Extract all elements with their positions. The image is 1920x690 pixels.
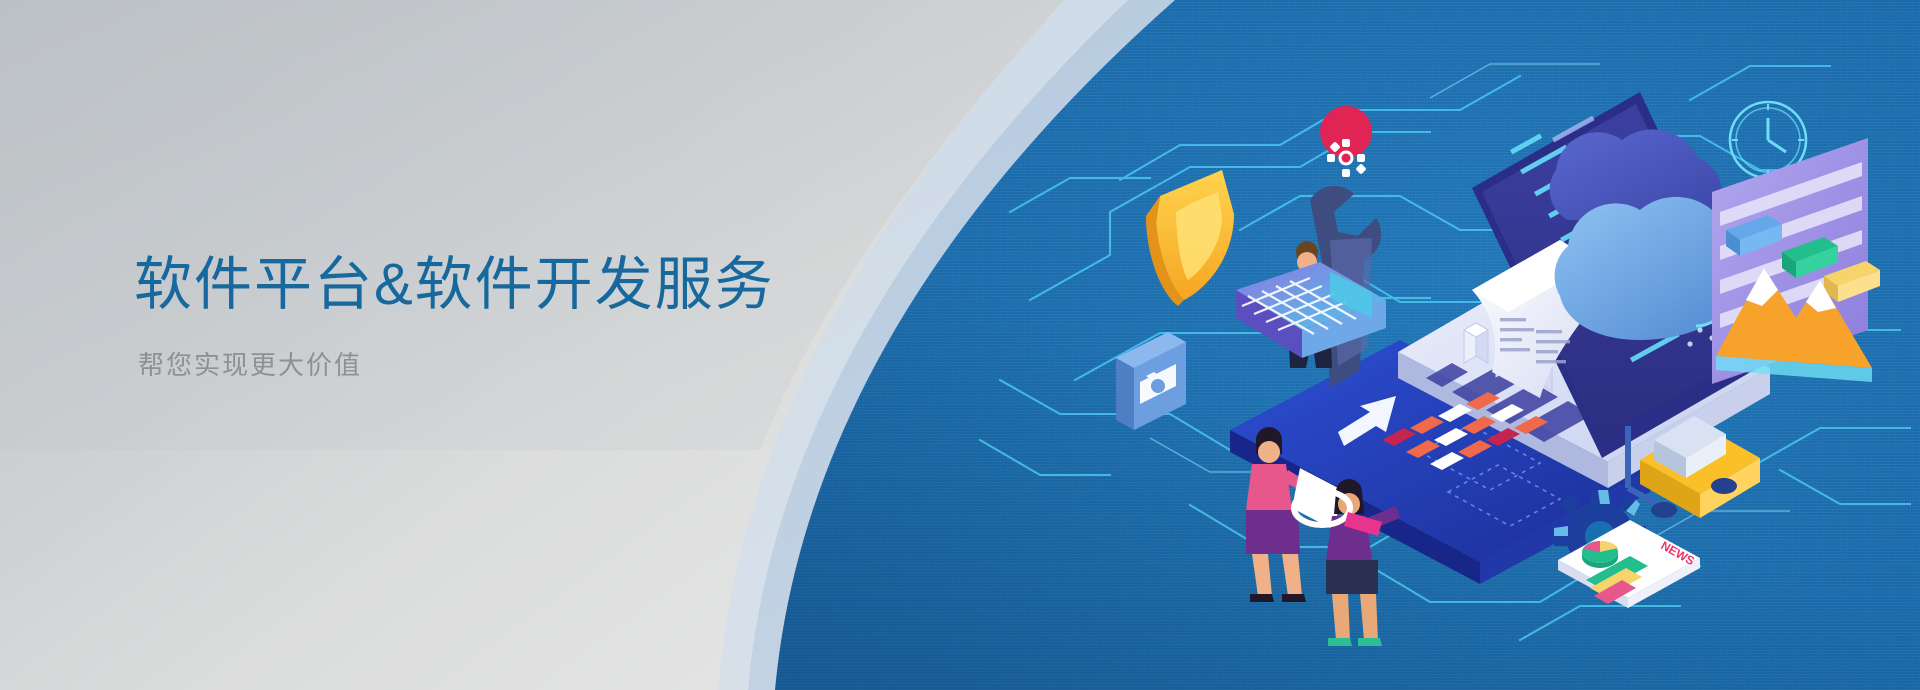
hero-banner: NEWS <box>0 0 1920 690</box>
page-title: 软件平台&软件开发服务 <box>134 252 894 319</box>
page-subtitle: 帮您实现更大价值 <box>138 345 894 382</box>
banner-copy: 软件平台&软件开发服务 帮您实现更大价值 <box>134 252 894 382</box>
